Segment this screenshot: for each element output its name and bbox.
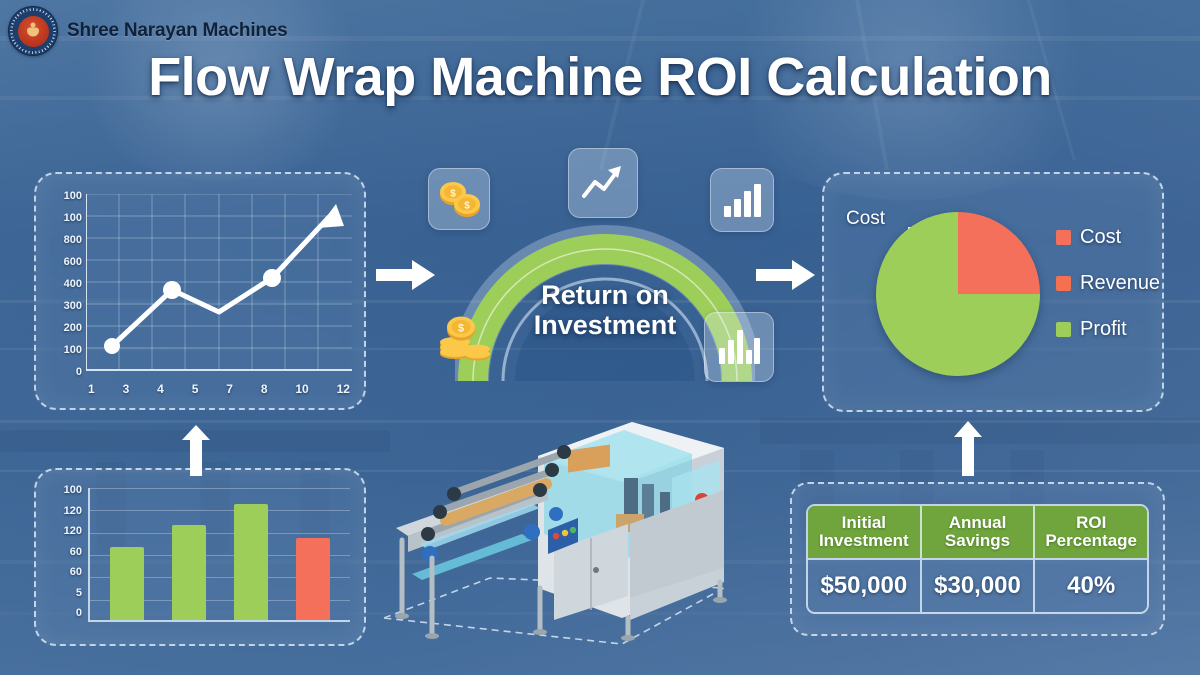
- infographic-canvas: Shree Narayan Machines Flow Wrap Machine…: [0, 0, 1200, 675]
- growth-line-chart-panel: 1001008006004003002001000 1345781012: [34, 172, 366, 410]
- bar-chart-y-tick-5: 5: [76, 587, 82, 599]
- line-chart-y-tick-6: 200: [64, 322, 82, 334]
- table-header-cell-2: ROIPercentage: [1035, 506, 1147, 558]
- table-row: $50,000$30,00040%: [808, 558, 1147, 612]
- legend-item-profit: Profit: [1056, 318, 1160, 341]
- table-header-cell-1: AnnualSavings: [922, 506, 1036, 558]
- svg-text:$: $: [464, 201, 470, 212]
- bar-chart-y-tick-2: 120: [64, 525, 82, 537]
- line-chart-y-tick-4: 400: [64, 278, 82, 290]
- table-value-cell-0: $50,000: [808, 560, 922, 612]
- table-value-cell-2: 40%: [1035, 560, 1147, 612]
- up-arrow-icon: [180, 424, 212, 476]
- roi-summary-table-panel: InitialInvestmentAnnualSavingsROIPercent…: [790, 482, 1165, 636]
- line-chart-y-tick-1: 100: [64, 212, 82, 224]
- stacked-gold-coins-icon: $: [432, 308, 498, 374]
- bar-chart-y-tick-1: 120: [64, 505, 82, 517]
- roi-summary-table: InitialInvestmentAnnualSavingsROIPercent…: [806, 504, 1149, 614]
- legend-swatch-revenue: [1056, 276, 1071, 291]
- table-value-cell-1: $30,000: [922, 560, 1036, 612]
- bar-chart-bar-0: [110, 547, 144, 620]
- roi-center-label-line1: Return on: [455, 280, 755, 310]
- line-chart-x-tick-0: 1: [88, 382, 95, 396]
- line-chart-x-tick-1: 3: [123, 382, 130, 396]
- line-chart-svg: [86, 194, 352, 374]
- flow-wrap-packaging-machine-image: [372, 382, 742, 660]
- bar-chart-y-tick-6: 0: [76, 607, 82, 619]
- right-arrow-icon: [756, 258, 816, 292]
- table-header-line: Investment: [819, 532, 909, 550]
- gold-coins-icon: $ $: [428, 168, 490, 230]
- pie-chart-legend: CostRevenueProfit: [1056, 226, 1160, 341]
- seated-figure-icon: [27, 22, 39, 37]
- legend-swatch-cost: [1056, 230, 1071, 245]
- legend-item-cost: Cost: [1056, 226, 1160, 249]
- line-chart-y-tick-5: 300: [64, 300, 82, 312]
- line-chart-x-axis-labels: 1345781012: [88, 382, 350, 396]
- bar-chart-bar-1: [172, 525, 206, 620]
- line-chart-y-tick-3: 600: [64, 256, 82, 268]
- brand-name: Shree Narayan Machines: [67, 20, 288, 42]
- line-chart-y-tick-2: 800: [64, 234, 82, 246]
- line-chart-x-tick-3: 5: [192, 382, 199, 396]
- table-header-line: Savings: [945, 532, 1010, 550]
- page-title: Flow Wrap Machine ROI Calculation: [0, 46, 1200, 108]
- bar-chart-plot-area: [88, 488, 350, 622]
- table-header-line: Percentage: [1045, 532, 1137, 550]
- line-chart-x-tick-5: 8: [261, 382, 268, 396]
- bar-chart-y-axis-labels: 100120120606050: [44, 484, 82, 619]
- table-header-line: Annual: [945, 514, 1010, 532]
- table-header-row: InitialInvestmentAnnualSavingsROIPercent…: [808, 506, 1147, 558]
- line-chart-x-tick-2: 4: [157, 382, 164, 396]
- logo-inner-disc: [18, 16, 49, 47]
- line-chart-y-tick-0: 100: [64, 190, 82, 202]
- mixed-bar-chart-icon: [704, 312, 774, 382]
- table-header-line: ROI: [1045, 514, 1137, 532]
- legend-label-revenue: Revenue: [1080, 272, 1160, 295]
- table-header-line: Initial: [819, 514, 909, 532]
- line-chart-y-tick-7: 100: [64, 344, 82, 356]
- bar-chart-y-tick-3: 60: [70, 546, 82, 558]
- ascending-bar-chart-icon: [710, 168, 774, 232]
- bar-chart-bar-2: [234, 504, 268, 620]
- trending-up-arrow-icon: [568, 148, 638, 218]
- pie-chart-disc: [876, 212, 1040, 376]
- cost-revenue-profit-pie-panel: Cost CostRevenueProfit: [822, 172, 1164, 412]
- table-header-cell-0: InitialInvestment: [808, 506, 922, 558]
- svg-text:$: $: [450, 189, 456, 200]
- svg-text:$: $: [458, 323, 464, 335]
- right-arrow-icon: [376, 258, 436, 292]
- line-chart-x-tick-7: 12: [337, 382, 350, 396]
- line-chart-x-tick-6: 10: [295, 382, 308, 396]
- bar-chart-y-tick-0: 100: [64, 484, 82, 496]
- pie-callout-label: Cost: [846, 208, 885, 230]
- performance-bar-chart-panel: 100120120606050: [34, 468, 366, 646]
- line-chart-y-axis-labels: 1001008006004003002001000: [46, 190, 82, 378]
- bar-chart-bars: [96, 488, 344, 620]
- legend-label-cost: Cost: [1080, 226, 1121, 249]
- bar-chart-bar-3: [296, 538, 330, 620]
- legend-item-revenue: Revenue: [1056, 272, 1160, 295]
- legend-swatch-profit: [1056, 322, 1071, 337]
- up-arrow-icon: [952, 420, 984, 476]
- line-chart-x-tick-4: 7: [226, 382, 233, 396]
- bar-chart-y-tick-4: 60: [70, 566, 82, 578]
- line-chart-y-tick-8: 0: [76, 366, 82, 378]
- line-chart-plot-area: [86, 194, 352, 374]
- legend-label-profit: Profit: [1080, 318, 1127, 341]
